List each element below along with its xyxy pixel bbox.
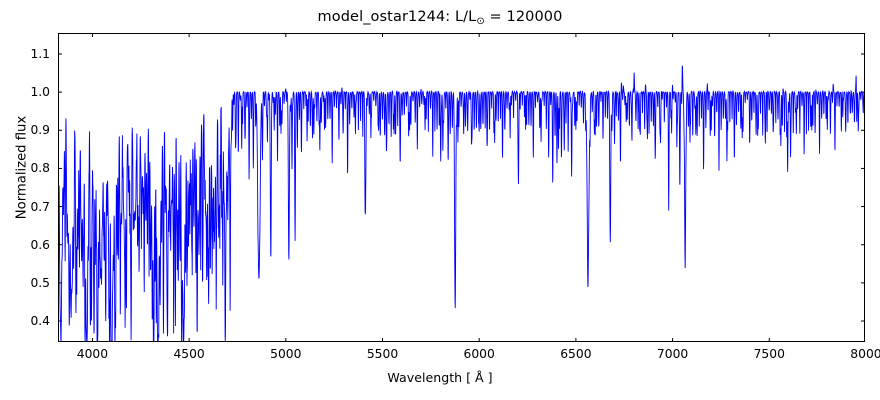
- solar-symbol-subscript: ⊙: [476, 16, 484, 27]
- plot-area: [58, 33, 865, 342]
- y-tick-label: 0.7: [6, 200, 50, 214]
- x-tick-label: 6000: [439, 347, 519, 361]
- x-tick-label: 8000: [826, 347, 880, 361]
- x-tick-label: 7000: [633, 347, 713, 361]
- y-tick-label: 1.0: [6, 85, 50, 99]
- x-axis-tick-labels: 400045005000550060006500700075008000: [0, 347, 880, 367]
- y-tick-label: 0.6: [6, 238, 50, 252]
- title-tail: = 120000: [485, 9, 563, 25]
- y-tick-label: 0.8: [6, 161, 50, 175]
- x-tick-label: 6500: [536, 347, 616, 361]
- x-tick-label: 5000: [246, 347, 326, 361]
- y-tick-label: 1.1: [6, 47, 50, 61]
- spectrum-curve: [58, 66, 865, 341]
- title-main: model_ostar1244: L/L: [318, 9, 477, 25]
- x-tick-label: 7500: [729, 347, 809, 361]
- y-tick-label: 0.5: [6, 276, 50, 290]
- y-tick-label: 0.9: [6, 123, 50, 137]
- x-tick-label: 4500: [149, 347, 229, 361]
- y-axis-tick-labels: 0.40.50.60.70.80.91.01.1: [0, 0, 50, 400]
- y-tick-label: 0.4: [6, 314, 50, 328]
- x-tick-label: 4000: [52, 347, 132, 361]
- x-tick-label: 5500: [343, 347, 423, 361]
- page-title: model_ostar1244: L/L⊙ = 120000: [0, 9, 880, 27]
- x-axis-label: Wavelength [ Å ]: [0, 370, 880, 385]
- spectrum-line-series: [58, 33, 865, 342]
- spectrum-figure: model_ostar1244: L/L⊙ = 120000 Normalize…: [0, 0, 880, 400]
